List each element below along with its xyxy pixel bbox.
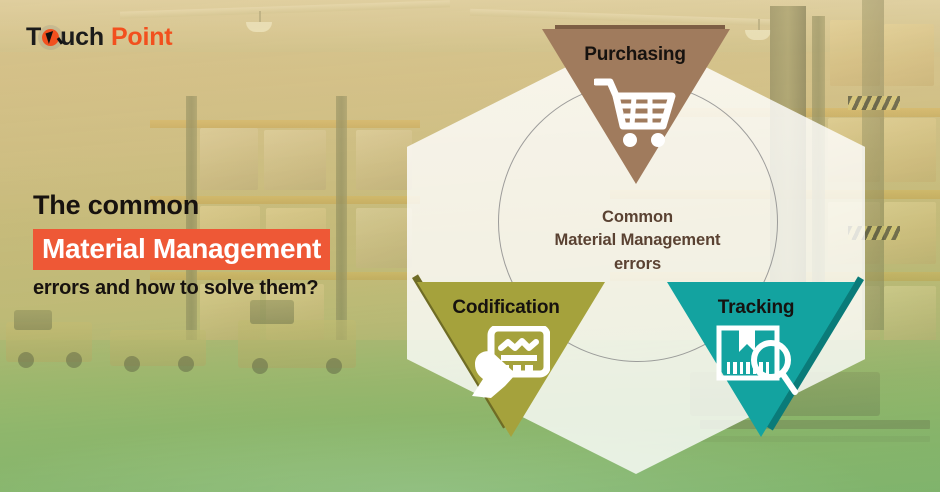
headline-line-3: errors and how to solve them? bbox=[33, 276, 423, 300]
diagram-center-text: Common Material Management errors bbox=[490, 206, 785, 276]
logo-touch-text: Tuch bbox=[26, 25, 104, 50]
center-line-1: Common bbox=[490, 206, 785, 229]
segment-label-codification: Codification bbox=[412, 297, 600, 319]
headline-highlight: Material Management bbox=[33, 229, 330, 270]
center-line-2: Material Management bbox=[490, 229, 785, 252]
hexagon-diagram: Purchasing Codification Tracking bbox=[395, 14, 875, 492]
logo-point-text: Point bbox=[111, 25, 173, 50]
logo-uch-text: uch bbox=[60, 23, 104, 51]
package-magnifier-icon bbox=[715, 324, 801, 400]
brand-logo[interactable]: Tuch Point bbox=[26, 22, 172, 52]
segment-label-tracking: Tracking bbox=[662, 297, 850, 319]
headline-block: The common Material Management errors an… bbox=[33, 190, 423, 300]
headline-line-1: The common bbox=[33, 190, 423, 222]
hand-holding-card-icon bbox=[468, 326, 550, 400]
center-line-3: errors bbox=[490, 253, 785, 276]
shopping-cart-icon bbox=[594, 76, 676, 148]
segment-label-purchasing: Purchasing bbox=[395, 44, 875, 66]
cursor-target-icon bbox=[41, 28, 60, 47]
